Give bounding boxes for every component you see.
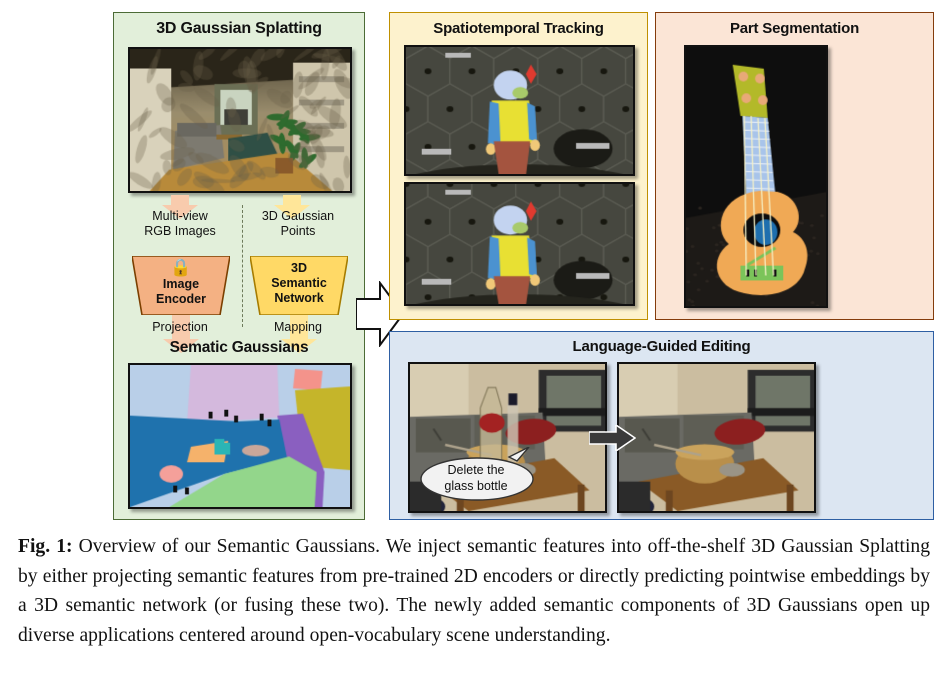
editing-after-image (617, 362, 816, 513)
before-after-arrow (589, 425, 636, 451)
branch-divider (242, 205, 243, 327)
label-points-line1: 3D Gaussian (239, 209, 357, 224)
label-mapping: Mapping (239, 320, 357, 335)
panel-part-segmentation: Part Segmentation (655, 12, 934, 320)
figure-caption-label: Fig. 1: (18, 536, 73, 557)
tracking-frame-2 (404, 182, 635, 306)
edit-prompt-line1: Delete the (448, 462, 505, 478)
tracking-frame-1 (404, 45, 635, 176)
label-multiview-rgb: Multi-view RGB Images (121, 209, 239, 239)
figure-root: 3D Gaussian Splatting Multi-view RGB Ima… (0, 0, 946, 686)
network-line2: Semantic (250, 276, 348, 291)
lock-icon: 🔒 (132, 259, 230, 276)
panel-title-partseg: Part Segmentation (656, 20, 933, 37)
module-image-encoder: 🔒 Image Encoder (132, 256, 230, 315)
semantic-gaussians-image (128, 363, 352, 509)
network-line3: Network (250, 291, 348, 306)
label-3d-gaussian-points: 3D Gaussian Points (239, 209, 357, 239)
figure-caption: Fig. 1: Overview of our Semantic Gaussia… (18, 532, 930, 650)
label-points-line2: Points (239, 224, 357, 239)
panel-subtitle-semantic-gaussians: Sematic Gaussians (114, 339, 364, 357)
label-multiview-line1: Multi-view (121, 209, 239, 224)
ukulele-part-segmentation-image (684, 45, 828, 308)
encoder-line2: Encoder (132, 292, 230, 307)
module-semantic-network-label: 3D Semantic Network (250, 261, 348, 306)
edit-prompt-line2: glass bottle (444, 478, 507, 494)
encoder-line1: Image (132, 277, 230, 292)
panel-3d-gaussian-splatting: 3D Gaussian Splatting Multi-view RGB Ima… (113, 12, 365, 520)
panel-spatiotemporal-tracking: Spatiotemporal Tracking (389, 12, 648, 320)
rgb-render-image (128, 47, 352, 193)
panel-title-editing: Language-Guided Editing (390, 338, 933, 355)
label-multiview-line2: RGB Images (121, 224, 239, 239)
module-3d-semantic-network: 3D Semantic Network (250, 256, 348, 315)
figure-caption-text: Overview of our Semantic Gaussians. We i… (18, 536, 930, 646)
module-image-encoder-label: Image Encoder (132, 277, 230, 307)
panel-title-splatting: 3D Gaussian Splatting (114, 20, 364, 38)
label-projection: Projection (121, 320, 239, 335)
edit-prompt-text: Delete the glass bottle (421, 455, 531, 501)
edit-prompt-bubble: Delete the glass bottle (421, 455, 531, 501)
panel-title-tracking: Spatiotemporal Tracking (390, 20, 647, 37)
network-line1: 3D (250, 261, 348, 276)
